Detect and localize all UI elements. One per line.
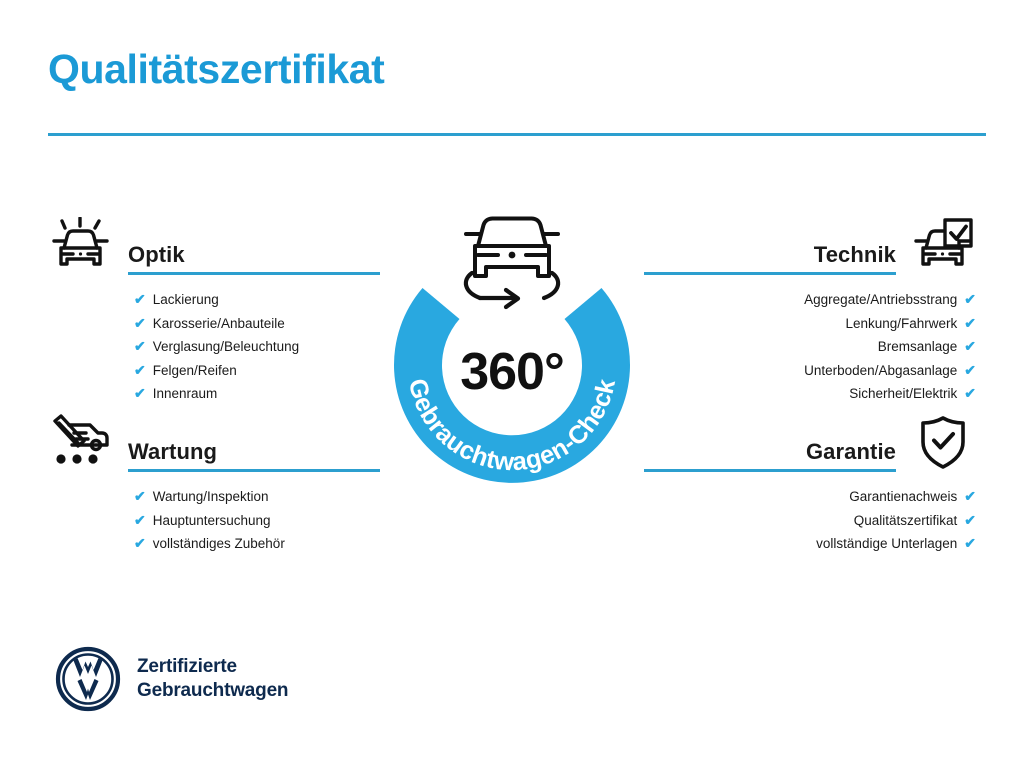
car-service-tool-icon xyxy=(48,410,114,472)
section-underline xyxy=(644,469,896,472)
checklist-technik: ✔Aggregate/Antriebsstrang ✔Lenkung/Fahrw… xyxy=(644,288,976,406)
title-divider xyxy=(48,133,986,136)
list-item-label: Wartung/Inspektion xyxy=(153,485,269,509)
section-title-optik: Optik xyxy=(128,243,380,272)
list-item: ✔Wartung/Inspektion xyxy=(48,485,380,509)
list-item-label: Garantienachweis xyxy=(849,485,957,509)
list-item-label: Felgen/Reifen xyxy=(153,359,237,383)
section-underline xyxy=(128,469,380,472)
list-item: ✔Karosserie/Anbauteile xyxy=(48,312,380,336)
check-icon: ✔ xyxy=(134,363,146,377)
section-optik: Optik ✔Lackierung ✔Karosserie/Anbauteile… xyxy=(48,205,380,406)
car-front-checkbox-icon xyxy=(910,213,976,275)
check-icon: ✔ xyxy=(964,316,976,330)
badge-360-gebrauchtwagen-check: Gebrauchtwagen-Check 360° xyxy=(378,196,646,492)
list-item: ✔Bremsanlage xyxy=(644,335,976,359)
shield-check-icon xyxy=(910,410,976,472)
check-icon: ✔ xyxy=(134,292,146,306)
section-underline xyxy=(644,272,896,275)
list-item-label: Aggregate/Antriebsstrang xyxy=(804,288,957,312)
list-item-label: Qualitätszertifikat xyxy=(854,509,958,533)
badge-center-value: 360° xyxy=(378,342,646,402)
list-item: ✔vollständiges Zubehör xyxy=(48,532,380,556)
check-icon: ✔ xyxy=(134,489,146,503)
check-icon: ✔ xyxy=(964,363,976,377)
vw-logo-line2: Gebrauchtwagen xyxy=(137,679,288,703)
list-item: ✔vollständige Unterlagen xyxy=(644,532,976,556)
list-item-label: Verglasung/Beleuchtung xyxy=(153,335,299,359)
list-item: ✔Lackierung xyxy=(48,288,380,312)
vw-logo-text: Zertifizierte Gebrauchtwagen xyxy=(137,655,288,704)
list-item: ✔Unterboden/Abgasanlage xyxy=(644,359,976,383)
check-icon: ✔ xyxy=(134,513,146,527)
section-title-technik: Technik xyxy=(644,243,896,272)
section-wartung: Wartung ✔Wartung/Inspektion ✔Hauptunters… xyxy=(48,402,380,556)
section-technik: Technik ✔Aggregate/Antriebsstrang ✔Lenku… xyxy=(644,205,976,406)
page-title: Qualitätszertifikat xyxy=(48,48,384,91)
vw-logo xyxy=(55,646,121,712)
check-icon: ✔ xyxy=(134,536,146,550)
car-rotate-icon xyxy=(466,219,558,308)
check-icon: ✔ xyxy=(964,513,976,527)
check-icon: ✔ xyxy=(964,536,976,550)
checklist-wartung: ✔Wartung/Inspektion ✔Hauptuntersuchung ✔… xyxy=(48,485,380,556)
list-item-label: Lenkung/Fahrwerk xyxy=(845,312,957,336)
list-item: ✔Qualitätszertifikat xyxy=(644,509,976,533)
section-title-wartung: Wartung xyxy=(128,440,380,469)
list-item-label: Bremsanlage xyxy=(878,335,958,359)
list-item-label: Unterboden/Abgasanlage xyxy=(804,359,957,383)
list-item: ✔Lenkung/Fahrwerk xyxy=(644,312,976,336)
checklist-optik: ✔Lackierung ✔Karosserie/Anbauteile ✔Verg… xyxy=(48,288,380,406)
section-underline xyxy=(128,272,380,275)
check-icon: ✔ xyxy=(964,489,976,503)
list-item-label: vollständige Unterlagen xyxy=(816,532,957,556)
list-item: ✔Felgen/Reifen xyxy=(48,359,380,383)
list-item-label: Hauptuntersuchung xyxy=(153,509,271,533)
checklist-garantie: ✔Garantienachweis ✔Qualitätszertifikat ✔… xyxy=(644,485,976,556)
list-item-label: vollständiges Zubehör xyxy=(153,532,285,556)
check-icon: ✔ xyxy=(134,339,146,353)
check-icon: ✔ xyxy=(134,386,146,400)
check-icon: ✔ xyxy=(964,386,976,400)
list-item: ✔Aggregate/Antriebsstrang xyxy=(644,288,976,312)
check-icon: ✔ xyxy=(134,316,146,330)
vw-logo-line1: Zertifizierte xyxy=(137,655,288,679)
car-front-lights-icon xyxy=(48,213,114,275)
list-item: ✔Garantienachweis xyxy=(644,485,976,509)
list-item: ✔Hauptuntersuchung xyxy=(48,509,380,533)
check-icon: ✔ xyxy=(964,292,976,306)
vw-certified-logo-block: Zertifizierte Gebrauchtwagen xyxy=(55,646,288,712)
list-item: ✔Verglasung/Beleuchtung xyxy=(48,335,380,359)
section-title-garantie: Garantie xyxy=(644,440,896,469)
check-icon: ✔ xyxy=(964,339,976,353)
list-item-label: Lackierung xyxy=(153,288,219,312)
section-garantie: Garantie ✔Garantienachweis ✔Qualitätszer… xyxy=(644,402,976,556)
list-item-label: Karosserie/Anbauteile xyxy=(153,312,285,336)
